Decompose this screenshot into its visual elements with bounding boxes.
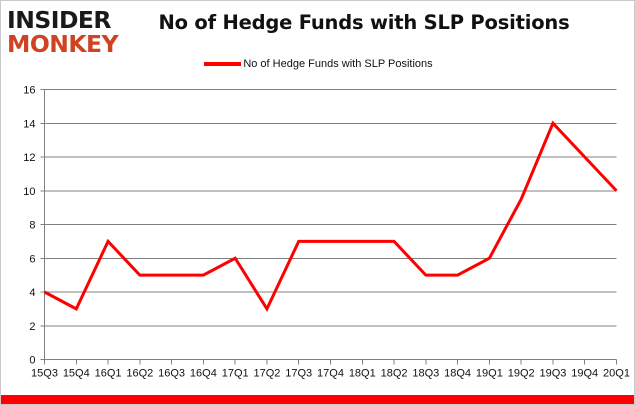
y-axis-tick-label: 12 <box>23 152 35 164</box>
y-axis-tick-label: 16 <box>23 85 35 97</box>
x-axis-tick-label: 16Q3 <box>158 368 185 380</box>
x-axis-tick-label: 17Q1 <box>222 368 249 380</box>
x-axis-tick-label: 19Q1 <box>476 368 503 380</box>
y-axis-tick-label: 8 <box>29 220 35 232</box>
line-chart-svg: 024681012141615Q315Q416Q116Q216Q316Q417Q… <box>1 1 635 405</box>
y-axis-tick-label: 2 <box>29 321 35 333</box>
y-axis-tick-label: 10 <box>23 186 35 198</box>
x-axis-tick-label: 16Q2 <box>126 368 153 380</box>
x-axis-tick-label: 18Q2 <box>381 368 408 380</box>
chart-plot-area: 024681012141615Q315Q416Q116Q216Q316Q417Q… <box>1 1 635 405</box>
x-axis-tick-label: 19Q4 <box>571 368 598 380</box>
x-axis-tick-label: 15Q3 <box>31 368 58 380</box>
series-line-0 <box>45 123 617 309</box>
x-axis-tick-label: 17Q3 <box>285 368 312 380</box>
x-axis-tick-label: 18Q3 <box>412 368 439 380</box>
x-axis-tick-label: 17Q2 <box>253 368 280 380</box>
x-axis-tick-label: 18Q1 <box>349 368 376 380</box>
chart-page: INSIDER MONKEY No of Hedge Funds with SL… <box>0 0 635 405</box>
x-axis-tick-label: 17Q4 <box>317 368 344 380</box>
bottom-accent-bar <box>1 395 635 404</box>
y-axis-tick-label: 4 <box>29 287 35 299</box>
x-axis-tick-label: 18Q4 <box>444 368 471 380</box>
x-axis-tick-label: 19Q3 <box>539 368 566 380</box>
x-axis-tick-label: 20Q1 <box>603 368 630 380</box>
x-axis-tick-label: 19Q2 <box>508 368 535 380</box>
y-axis-tick-label: 6 <box>29 253 35 265</box>
x-axis-tick-label: 15Q4 <box>63 368 90 380</box>
x-axis-tick-label: 16Q4 <box>190 368 217 380</box>
x-axis-tick-label: 16Q1 <box>95 368 122 380</box>
y-axis-tick-label: 0 <box>29 355 35 367</box>
y-axis-tick-label: 14 <box>23 118 35 130</box>
